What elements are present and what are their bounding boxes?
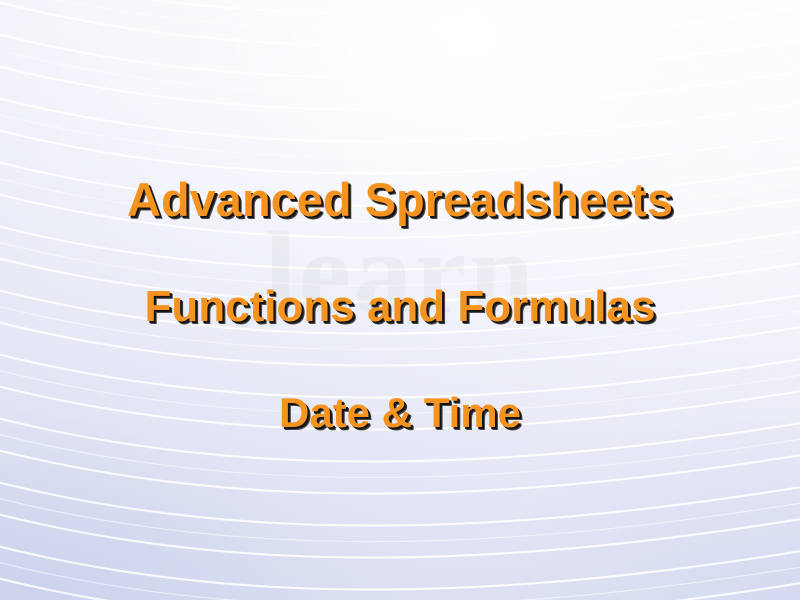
title-line-primary: Advanced Spreadsheets	[0, 172, 800, 227]
presentation-slide: learn Advanced Spreadsheets Functions an…	[0, 0, 800, 600]
title-line-secondary: Functions and Formulas	[0, 282, 800, 332]
title-line-topic: Date & Time	[0, 389, 800, 437]
slide-title-block: Advanced Spreadsheets Functions and Form…	[0, 0, 800, 600]
